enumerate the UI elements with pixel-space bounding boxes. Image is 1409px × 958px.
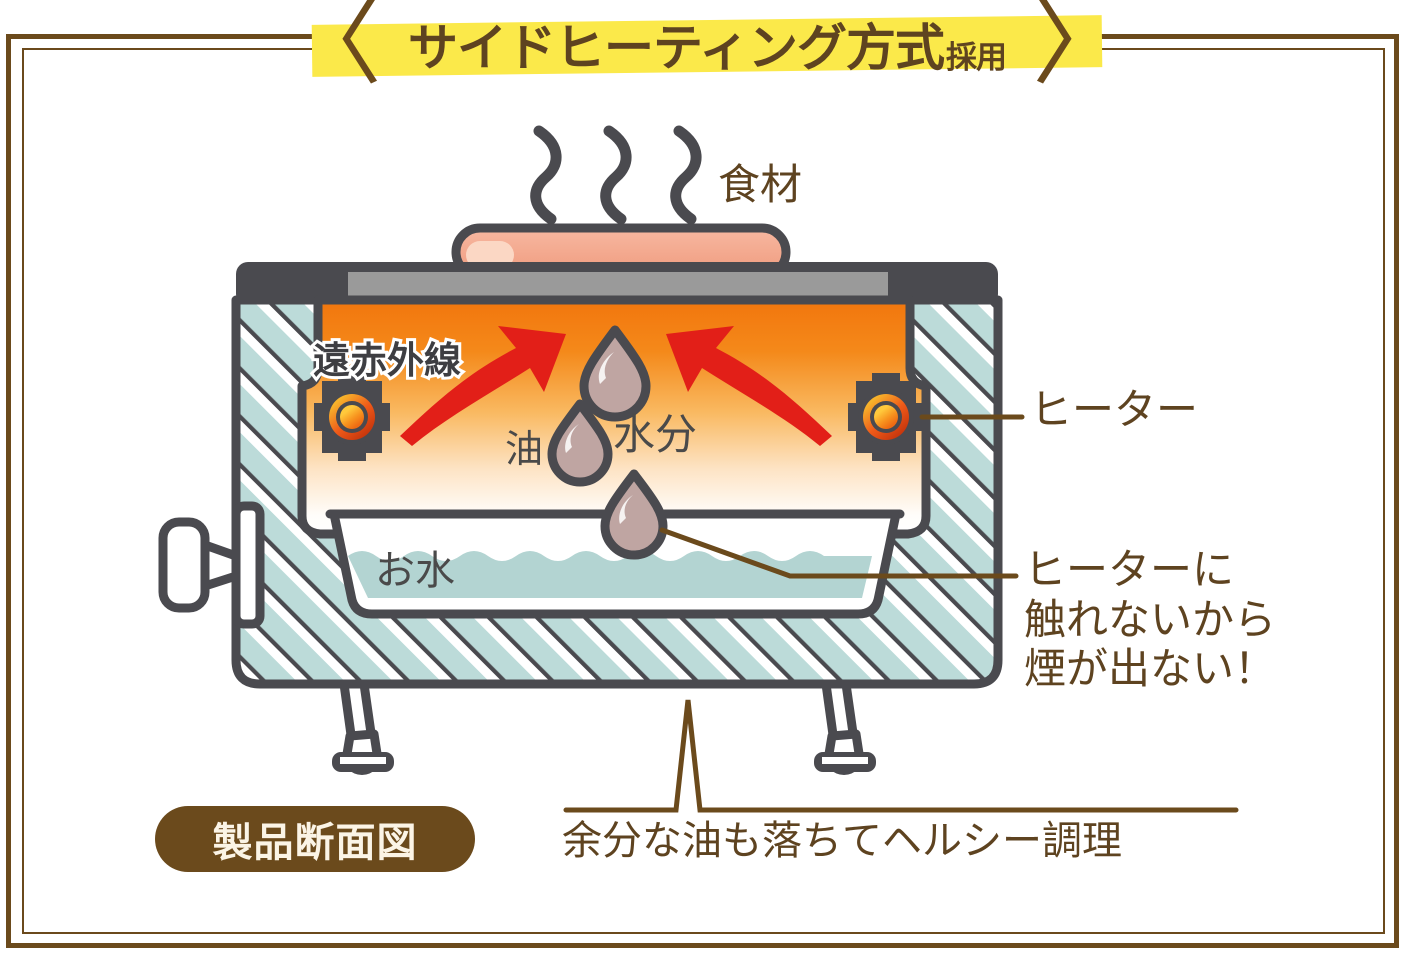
label-food: 食材	[718, 160, 802, 210]
label-no-smoke-line1: ヒーターに	[1024, 545, 1276, 595]
heater-element-right	[848, 373, 924, 461]
label-no-smoke-line3: 煙が出ない！	[1024, 644, 1276, 694]
heater-element-left	[314, 373, 390, 461]
label-water: お水	[375, 548, 455, 595]
steam-icon	[536, 131, 696, 219]
label-moisture: 水分	[613, 410, 697, 460]
label-oil: 油	[505, 428, 543, 473]
label-heater: ヒーター	[1030, 385, 1198, 435]
handle	[163, 506, 260, 624]
legs	[332, 684, 876, 775]
cross-section-badge: 製品断面図	[155, 806, 475, 872]
label-no-smoke: ヒーターに 触れないから 煙が出ない！	[1024, 545, 1276, 694]
label-no-smoke-line2: 触れないから	[1024, 595, 1276, 645]
label-healthy-cooking: 余分な油も落ちてヘルシー調理	[562, 818, 1122, 865]
infographic-canvas: サイドヒーティング方式採用 〈〉	[0, 0, 1409, 958]
grill-plate	[348, 272, 888, 298]
label-far-infrared: 遠赤外線	[313, 330, 461, 384]
